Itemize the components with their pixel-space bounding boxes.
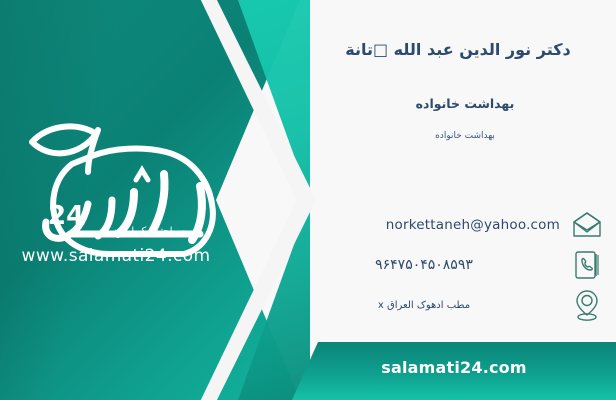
- apple-leaf-logo-icon: 24: [14, 108, 234, 268]
- envelope-icon: [566, 205, 608, 245]
- contact-list: norkettaneh@yahoo.com ۹۶۴۷۵۰۴۵۰۸۵۹۳: [308, 205, 608, 325]
- contact-row-email[interactable]: norkettaneh@yahoo.com: [308, 205, 608, 245]
- phone-value[interactable]: ۹۶۴۷۵۰۴۵۰۸۵۹۳: [308, 257, 566, 273]
- location-pin-icon: [566, 285, 608, 325]
- footer-site-link[interactable]: salamati24.com: [292, 358, 616, 377]
- brand-tagline: به راحتی یک لبخند: [86, 226, 216, 237]
- contact-row-phone[interactable]: ۹۶۴۷۵۰۴۵۰۸۵۹۳: [308, 245, 608, 285]
- brand-logo: 24: [14, 108, 234, 268]
- address-value[interactable]: مطب ادهوک العراق x: [308, 300, 566, 311]
- specialty-primary: بهداشت خانواده: [328, 96, 602, 111]
- footer-bar: salamati24.com: [292, 342, 616, 400]
- email-value[interactable]: norkettaneh@yahoo.com: [308, 217, 566, 233]
- business-card: 24 به راحتی یک لبخند www.salamati24.com …: [0, 0, 616, 400]
- specialty-secondary: بهداشت خانواده: [328, 131, 602, 141]
- phone-book-icon: [566, 245, 608, 285]
- card-content: دکتر نور الدین عبد الله □تانة بهداشت خان…: [300, 0, 616, 400]
- doctor-name: دکتر نور الدین عبد الله □تانة: [314, 40, 602, 61]
- brand-url[interactable]: www.salamati24.com: [16, 246, 216, 266]
- contact-row-address[interactable]: مطب ادهوک العراق x: [308, 285, 608, 325]
- svg-text:24: 24: [48, 201, 84, 231]
